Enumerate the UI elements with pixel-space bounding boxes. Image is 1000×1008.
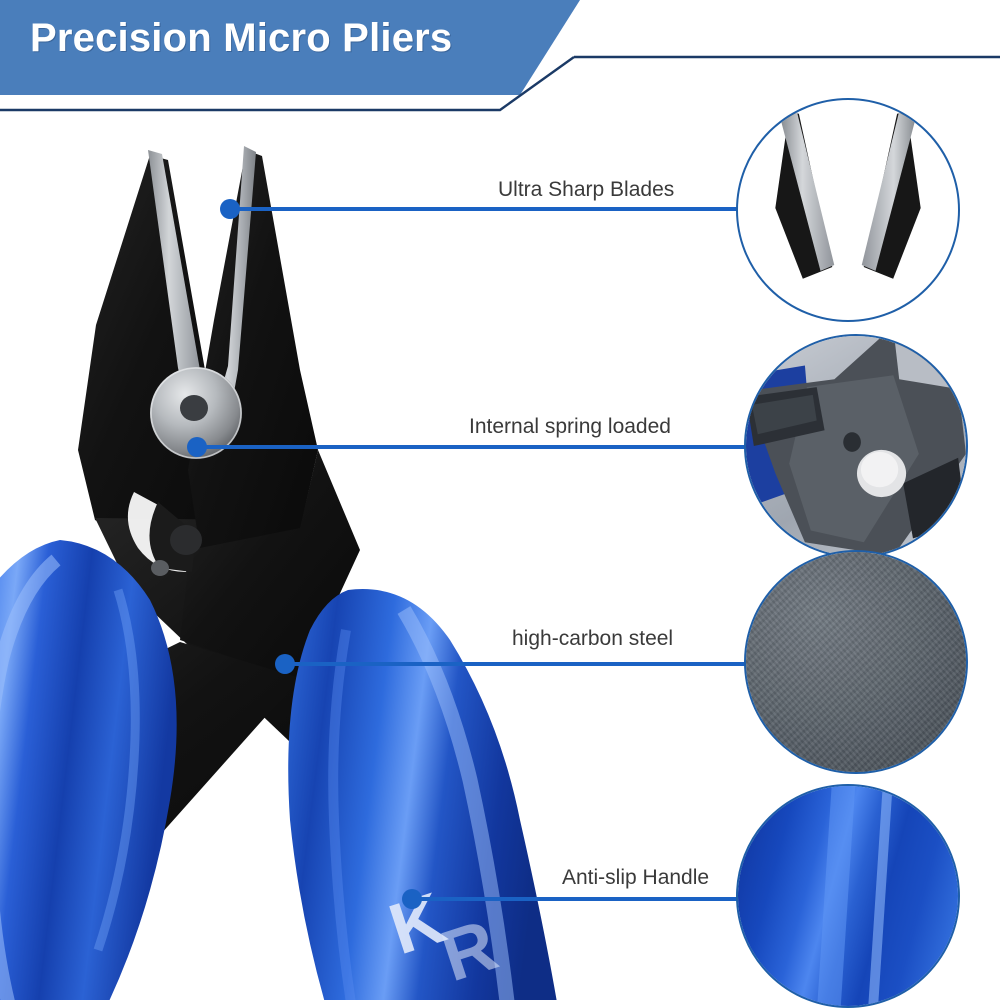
spring-joint-icon: [746, 336, 966, 556]
callout-label-high-carbon-steel: high-carbon steel: [512, 627, 673, 651]
callout-label-ultra-sharp-blades: Ultra Sharp Blades: [498, 178, 674, 202]
handle-grip-icon: [738, 786, 958, 1006]
pivot-rivet: [150, 367, 242, 459]
steel-surface-icon: [746, 552, 966, 772]
detail-circle-spring-joint: [744, 334, 968, 558]
callout-label-internal-spring-loaded: Internal spring loaded: [469, 415, 671, 439]
blade-tips-icon: [738, 100, 958, 320]
infographic-canvas: Precision Micro Pliers: [0, 0, 1000, 1000]
left-handle-grip: [0, 540, 177, 1000]
callout-label-anti-slip-handle: Anti-slip Handle: [562, 866, 709, 890]
detail-circle-steel-surface: [744, 550, 968, 774]
detail-circle-blade-tips: [736, 98, 960, 322]
detail-circle-handle-grip: [736, 784, 960, 1008]
